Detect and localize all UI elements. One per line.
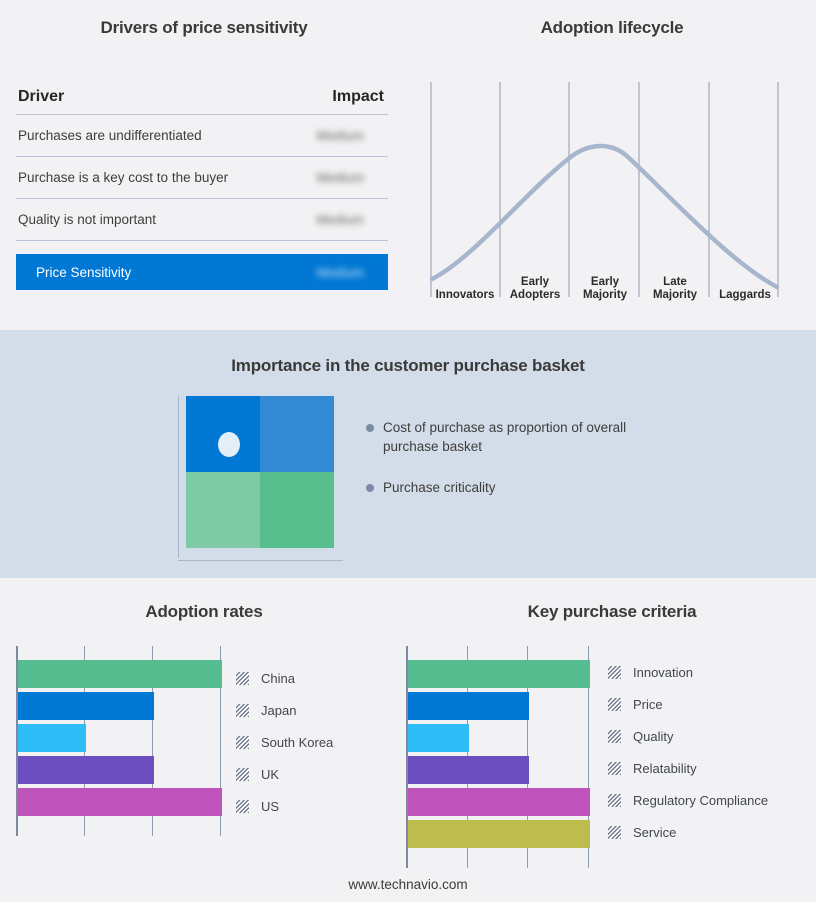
column-header-driver: Driver xyxy=(18,88,64,106)
legend-dot-icon xyxy=(366,424,374,432)
lifecycle-stage-laggards: Laggards xyxy=(710,289,780,304)
footer-url[interactable]: www.technavio.com xyxy=(0,877,816,892)
legend-label: Cost of purchase as proportion of overal… xyxy=(383,418,666,456)
legend-label: UK xyxy=(261,767,279,782)
legend-label: Regulatory Compliance xyxy=(633,793,768,808)
summary-label: Price Sensitivity xyxy=(36,265,131,280)
bar-japan[interactable] xyxy=(18,692,154,720)
legend-item[interactable]: US xyxy=(236,790,333,822)
legend-item[interactable]: South Korea xyxy=(236,726,333,758)
legend-label: Service xyxy=(633,825,676,840)
legend-swatch-icon xyxy=(608,666,621,679)
bar-regulatory-compliance[interactable] xyxy=(408,788,590,816)
impact-value: Medium xyxy=(317,170,384,185)
bar-china[interactable] xyxy=(18,660,222,688)
price-sensitivity-summary-row[interactable]: Price Sensitivity Medium xyxy=(16,254,388,290)
bar-service[interactable] xyxy=(408,820,590,848)
adoption-lifecycle-title: Adoption lifecycle xyxy=(408,18,816,38)
legend-label: Purchase criticality xyxy=(383,478,496,497)
adoption-rates-title: Adoption rates xyxy=(0,602,408,622)
legend-dot-icon xyxy=(366,484,374,492)
lifecycle-stage-early-majority: Early Majority xyxy=(570,276,640,304)
legend-label: South Korea xyxy=(261,735,333,750)
table-row[interactable]: Purchases are undifferentiated Medium xyxy=(16,115,388,157)
legend-swatch-icon xyxy=(608,698,621,711)
legend-label: China xyxy=(261,671,295,686)
legend-swatch-icon xyxy=(236,736,249,749)
quadrant-grid xyxy=(186,396,334,548)
legend-swatch-icon xyxy=(236,800,249,813)
adoption-rates-legend: China Japan South Korea UK US xyxy=(236,662,333,822)
purchase-criteria-chart xyxy=(406,646,596,868)
top-section: Drivers of price sensitivity Driver Impa… xyxy=(0,0,816,330)
lifecycle-stage-early-adopters: Early Adopters xyxy=(500,276,570,304)
drivers-title: Drivers of price sensitivity xyxy=(0,18,408,38)
purchase-criteria-legend: Innovation Price Quality Relatability Re… xyxy=(608,656,768,848)
legend-item[interactable]: Relatability xyxy=(608,752,768,784)
lifecycle-stage-innovators: Innovators xyxy=(430,289,500,304)
impact-value: Medium xyxy=(317,128,384,143)
bar-innovation[interactable] xyxy=(408,660,590,688)
table-row[interactable]: Quality is not important Medium xyxy=(16,199,388,241)
lifecycle-axis-labels: Innovators Early Adopters Early Majority… xyxy=(430,262,780,304)
column-header-impact: Impact xyxy=(332,88,384,106)
legend-swatch-icon xyxy=(236,768,249,781)
legend-item[interactable]: Innovation xyxy=(608,656,768,688)
bar-price[interactable] xyxy=(408,692,529,720)
legend-swatch-icon xyxy=(236,672,249,685)
legend-swatch-icon xyxy=(608,826,621,839)
quadrant-marker-dot xyxy=(218,432,240,457)
driver-label: Purchases are undifferentiated xyxy=(18,128,202,143)
purchase-basket-legend: Cost of purchase as proportion of overal… xyxy=(366,418,666,519)
bar-series xyxy=(408,660,590,852)
bar-quality[interactable] xyxy=(408,724,469,752)
purchase-criteria-title: Key purchase criteria xyxy=(408,602,816,622)
legend-item[interactable]: China xyxy=(236,662,333,694)
legend-label: Relatability xyxy=(633,761,697,776)
bar-south-korea[interactable] xyxy=(18,724,86,752)
bar-uk[interactable] xyxy=(18,756,154,784)
legend-item[interactable]: Japan xyxy=(236,694,333,726)
bar-series xyxy=(18,660,222,820)
legend-item[interactable]: Purchase criticality xyxy=(366,478,666,497)
quadrant-bottom-right[interactable] xyxy=(260,472,334,548)
quadrant-x-axis xyxy=(178,560,343,561)
drivers-table: Driver Impact Purchases are undifferenti… xyxy=(16,88,388,290)
quadrant-bottom-left[interactable] xyxy=(186,472,260,548)
legend-item[interactable]: UK xyxy=(236,758,333,790)
legend-item[interactable]: Quality xyxy=(608,720,768,752)
summary-impact-value: Medium xyxy=(317,265,384,280)
legend-item[interactable]: Cost of purchase as proportion of overal… xyxy=(366,418,666,456)
quadrant-top-right[interactable] xyxy=(260,396,334,472)
bar-relatability[interactable] xyxy=(408,756,529,784)
legend-swatch-icon xyxy=(608,794,621,807)
quadrant-y-axis xyxy=(178,396,179,558)
legend-item[interactable]: Service xyxy=(608,816,768,848)
legend-label: US xyxy=(261,799,279,814)
legend-label: Japan xyxy=(261,703,296,718)
legend-label: Price xyxy=(633,697,663,712)
purchase-basket-panel: Importance in the customer purchase bask… xyxy=(0,330,816,578)
driver-label: Purchase is a key cost to the buyer xyxy=(18,170,228,185)
lifecycle-stage-late-majority: Late Majority xyxy=(640,276,710,304)
legend-swatch-icon xyxy=(236,704,249,717)
legend-swatch-icon xyxy=(608,730,621,743)
adoption-rates-chart xyxy=(16,646,222,836)
impact-value: Medium xyxy=(317,212,384,227)
legend-item[interactable]: Price xyxy=(608,688,768,720)
table-row[interactable]: Purchase is a key cost to the buyer Medi… xyxy=(16,157,388,199)
bar-us[interactable] xyxy=(18,788,222,816)
purchase-basket-title: Importance in the customer purchase bask… xyxy=(0,356,816,376)
legend-item[interactable]: Regulatory Compliance xyxy=(608,784,768,816)
driver-label: Quality is not important xyxy=(18,212,156,227)
drivers-table-header: Driver Impact xyxy=(16,88,388,115)
adoption-lifecycle-panel: Adoption lifecycle Innovators Early xyxy=(408,0,816,330)
legend-label: Quality xyxy=(633,729,673,744)
drivers-panel: Drivers of price sensitivity Driver Impa… xyxy=(0,0,408,330)
purchase-basket-quadrant-chart xyxy=(178,396,343,571)
middle-section: Importance in the customer purchase bask… xyxy=(0,330,816,578)
legend-swatch-icon xyxy=(608,762,621,775)
legend-label: Innovation xyxy=(633,665,693,680)
